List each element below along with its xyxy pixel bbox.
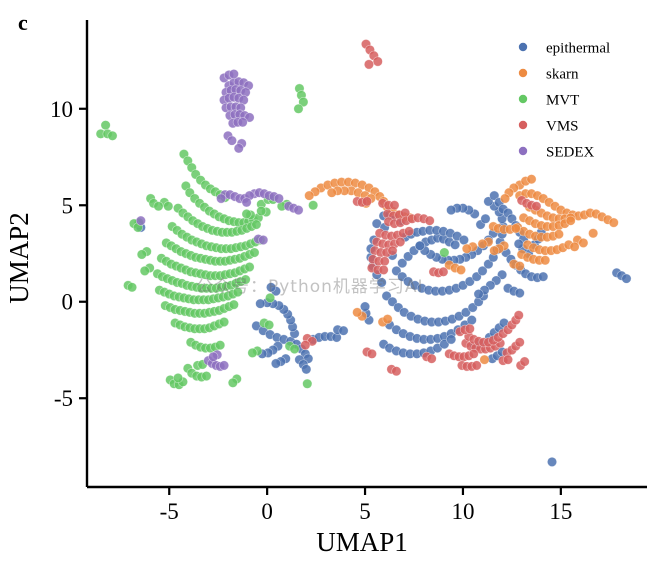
data-point [229, 69, 238, 78]
y-tick-label: -5 [54, 386, 73, 411]
data-point [490, 246, 499, 255]
data-point [547, 457, 556, 466]
legend-marker-MVT [519, 95, 527, 103]
data-point [472, 361, 481, 370]
data-point [462, 244, 471, 253]
data-point [440, 248, 449, 257]
data-point [127, 283, 136, 292]
legend-marker-skarn [519, 69, 527, 77]
y-tick-label: 5 [62, 193, 74, 218]
data-point [474, 289, 483, 298]
data-point [427, 354, 436, 363]
data-point [136, 216, 145, 225]
data-point [327, 188, 336, 197]
data-point [456, 265, 465, 274]
data-point [360, 302, 369, 311]
data-point [527, 175, 536, 184]
data-point [425, 216, 434, 225]
x-tick-label: 10 [451, 499, 474, 524]
data-point [515, 338, 524, 347]
data-point [439, 267, 448, 276]
data-point [266, 283, 275, 292]
data-point [108, 131, 117, 140]
data-point [511, 224, 520, 233]
data-point [520, 357, 529, 366]
data-point [271, 359, 280, 368]
data-point [250, 248, 259, 257]
data-point [259, 235, 268, 244]
data-point [554, 230, 563, 239]
data-point [219, 317, 228, 326]
data-point [459, 235, 468, 244]
axis-frame [87, 20, 647, 487]
data-point [308, 201, 317, 210]
data-point [500, 194, 509, 203]
legend-marker-SEDEX [519, 147, 527, 155]
data-point [609, 218, 618, 227]
data-point [450, 240, 459, 249]
data-point [294, 104, 303, 113]
data-point [467, 315, 476, 324]
data-point [515, 288, 524, 297]
data-point [164, 202, 173, 211]
data-point [579, 238, 588, 247]
data-point [478, 239, 487, 248]
data-point [379, 265, 388, 274]
data-point [252, 220, 261, 229]
data-point [404, 227, 413, 236]
data-point [303, 379, 312, 388]
data-point [514, 239, 523, 248]
data-point [154, 202, 163, 211]
data-point [257, 206, 266, 215]
data-point [515, 261, 524, 270]
data-point [392, 367, 401, 376]
data-point [447, 205, 456, 214]
data-point [229, 300, 238, 309]
data-point [241, 275, 250, 284]
umap-scatter-figure: c -50510151050-5 epithermalskarnMVTVMSSE… [0, 0, 650, 565]
legend-label-VMS: VMS [546, 119, 579, 135]
data-point [302, 365, 311, 374]
data-point [305, 191, 314, 200]
data-point [388, 246, 397, 255]
data-point [301, 340, 310, 349]
data-point [294, 205, 303, 214]
y-axis-title: UMAP2 [4, 212, 34, 304]
legend-marker-epithermal [519, 43, 527, 51]
data-point [209, 352, 218, 361]
data-point [622, 274, 631, 283]
plot-canvas: -50510151050-5 epithermalskarnMVTVMSSEDE… [0, 0, 650, 565]
x-tick-label: -5 [160, 499, 179, 524]
data-point [415, 241, 424, 250]
data-point [353, 308, 362, 317]
data-point [264, 320, 273, 329]
data-point [101, 120, 110, 129]
data-point [447, 335, 456, 344]
x-axis-title: UMAP1 [316, 527, 408, 557]
data-point [265, 293, 274, 302]
data-point [290, 344, 299, 353]
data-point [238, 118, 247, 127]
data-point [339, 326, 348, 335]
data-point [570, 242, 579, 251]
data-point [274, 194, 283, 203]
data-point [480, 355, 489, 364]
data-point [137, 250, 146, 259]
data-point [245, 262, 254, 271]
tick-marks [79, 109, 561, 495]
data-point [367, 349, 376, 358]
x-tick-label: 15 [549, 499, 572, 524]
data-point [364, 60, 373, 69]
data-point [227, 136, 236, 145]
data-point [242, 209, 251, 218]
data-point [469, 349, 478, 358]
data-point [503, 355, 512, 364]
data-point [219, 361, 228, 370]
data-point [396, 237, 405, 246]
data-point [465, 324, 474, 333]
y-tick-label: 0 [62, 290, 74, 315]
data-point [373, 57, 382, 66]
legend-label-SEDEX: SEDEX [546, 145, 595, 161]
y-tick-label: 10 [50, 97, 73, 122]
data-point [256, 299, 265, 308]
legend-label-skarn: skarn [546, 67, 579, 83]
data-point [390, 201, 399, 210]
data-point [248, 348, 257, 357]
data-point [362, 197, 371, 206]
legend: epithermalskarnMVTVMSSEDEX [519, 41, 610, 161]
legend-marker-VMS [519, 121, 527, 129]
data-point [588, 229, 597, 238]
data-point [380, 257, 389, 266]
data-point [228, 378, 237, 387]
data-point [481, 214, 490, 223]
data-point [539, 272, 548, 281]
data-point [140, 266, 149, 275]
data-point [566, 216, 575, 225]
data-point [383, 314, 392, 323]
legend-label-MVT: MVT [546, 93, 579, 109]
data-point [233, 287, 242, 296]
data-point [234, 144, 243, 153]
data-point [216, 194, 225, 203]
legend-label-epithermal: epithermal [546, 41, 610, 57]
data-point [532, 202, 541, 211]
data-point [540, 256, 549, 265]
data-point [202, 371, 211, 380]
data-point [215, 340, 224, 349]
x-tick-label: 5 [359, 499, 371, 524]
x-tick-label: 0 [261, 499, 273, 524]
tick-labels: -50510151050-5 [50, 97, 572, 524]
data-point [242, 198, 251, 207]
data-point [514, 311, 523, 320]
data-point [173, 373, 182, 382]
